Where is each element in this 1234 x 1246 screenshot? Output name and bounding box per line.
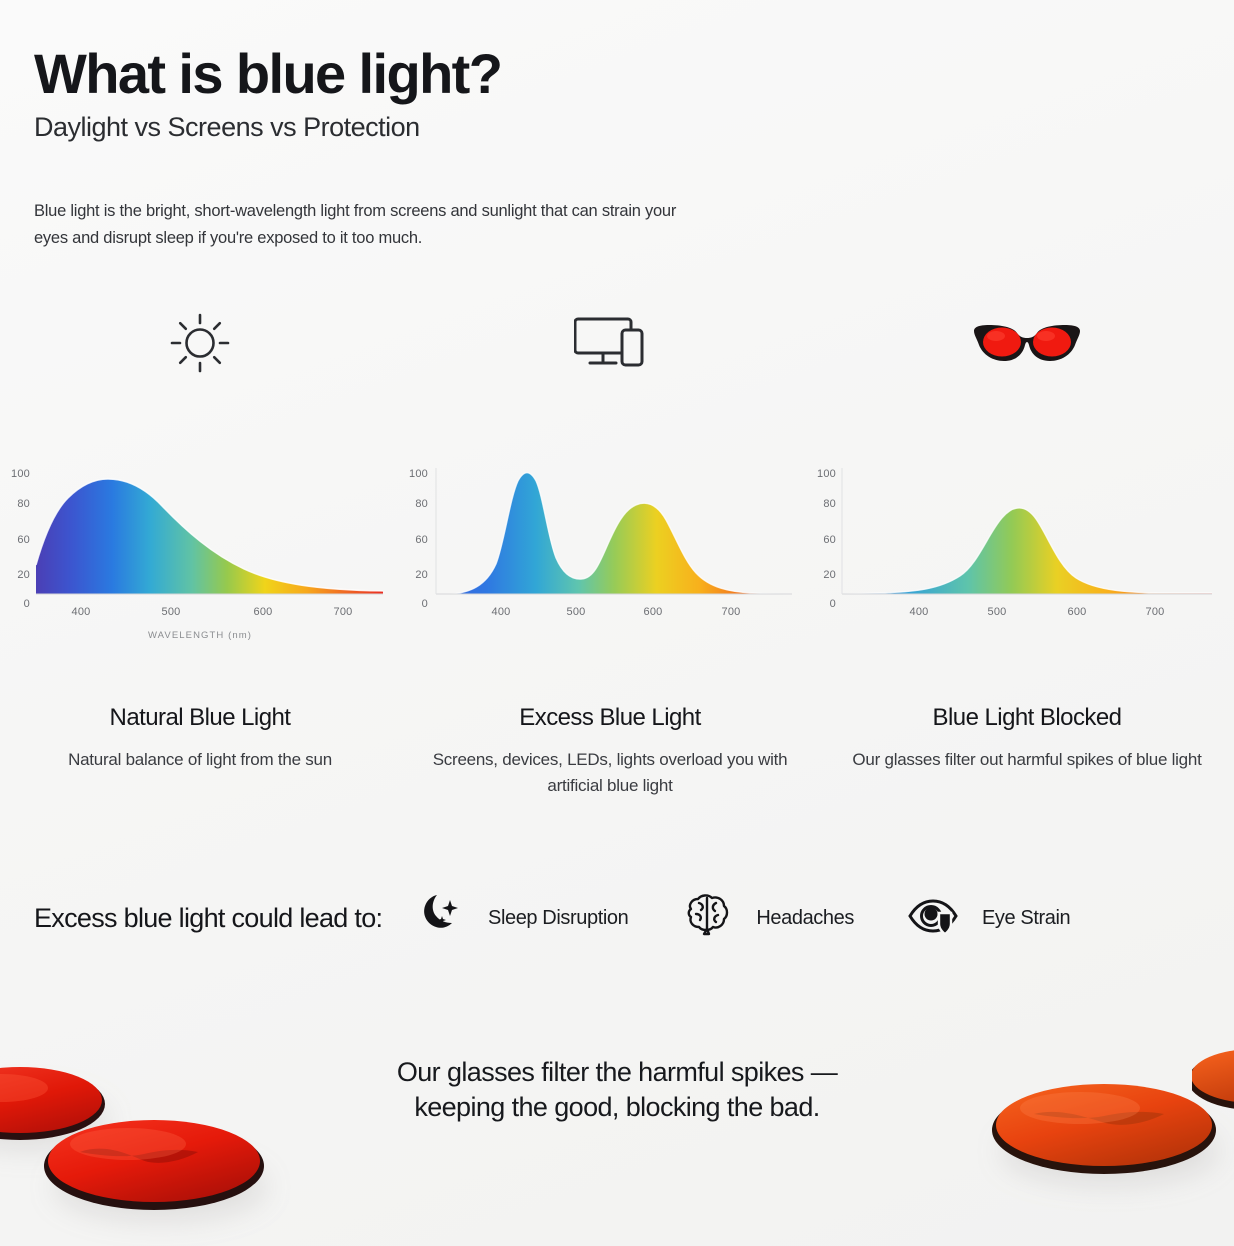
lens-right-far — [1192, 1040, 1234, 1118]
symptom-sleep-disruption: Sleep Disruption — [412, 889, 628, 948]
brain-icon — [680, 889, 734, 948]
ytick-60: 60 — [400, 534, 428, 546]
ytick-20: 20 — [808, 569, 836, 581]
panel-title: Blue Light Blocked — [820, 704, 1234, 732]
ytick-80: 80 — [808, 498, 836, 510]
ytick-100: 100 — [2, 468, 30, 480]
xtick-500: 500 — [555, 606, 597, 618]
lens-right-near — [988, 1072, 1220, 1180]
ytick-0: 0 — [400, 598, 428, 610]
ytick-80: 80 — [400, 498, 428, 510]
infographic-page: What is blue light? Daylight vs Screens … — [0, 0, 1234, 1246]
xtick-400: 400 — [60, 606, 102, 618]
panel-title: Natural Blue Light — [0, 704, 400, 732]
symptom-label: Eye Strain — [982, 907, 1070, 930]
intro-paragraph: Blue light is the bright, short-waveleng… — [34, 198, 694, 251]
header: What is blue light? Daylight vs Screens … — [34, 45, 794, 143]
eye-shield-icon — [906, 889, 960, 948]
xtick-400: 400 — [898, 606, 940, 618]
panel-description: Screens, devices, LEDs, lights overload … — [400, 747, 820, 798]
ytick-60: 60 — [2, 534, 30, 546]
lens-left-near — [40, 1108, 268, 1216]
xtick-500: 500 — [150, 606, 192, 618]
panel-excess-blue-light: 100 80 60 20 0 400 500 600 700 Excess Bl… — [400, 300, 820, 845]
symptom-eye-strain: Eye Strain — [906, 889, 1070, 948]
panel-natural-blue-light: 100 80 60 20 0 400 500 600 700 WAVELENGT… — [0, 300, 400, 845]
sun-icon — [0, 300, 400, 386]
panel-description: Our glasses filter out harmful spikes of… — [820, 747, 1234, 773]
xtick-700: 700 — [1134, 606, 1176, 618]
ytick-20: 20 — [2, 569, 30, 581]
x-axis-label: WAVELENGTH (nm) — [0, 630, 400, 641]
ytick-0: 0 — [808, 598, 836, 610]
symptoms-row: Excess blue light could lead to: Sleep D… — [34, 878, 1200, 958]
ytick-0: 0 — [2, 598, 30, 610]
panel-title: Excess Blue Light — [400, 704, 820, 732]
xtick-600: 600 — [1056, 606, 1098, 618]
xtick-600: 600 — [242, 606, 284, 618]
ytick-100: 100 — [400, 468, 428, 480]
page-subtitle: Daylight vs Screens vs Protection — [34, 112, 794, 143]
symptom-label: Headaches — [756, 907, 854, 930]
panel-description: Natural balance of light from the sun — [0, 747, 400, 773]
symptom-label: Sleep Disruption — [488, 907, 628, 930]
xtick-400: 400 — [480, 606, 522, 618]
chart-natural-blue-light: 100 80 60 20 0 400 500 600 700 WAVELENGT… — [0, 386, 400, 648]
ytick-80: 80 — [2, 498, 30, 510]
ytick-100: 100 — [808, 468, 836, 480]
chart-excess-blue-light: 100 80 60 20 0 400 500 600 700 — [400, 386, 820, 648]
blue-light-glasses-icon — [820, 300, 1234, 386]
ytick-60: 60 — [808, 534, 836, 546]
xtick-600: 600 — [632, 606, 674, 618]
xtick-700: 700 — [322, 606, 364, 618]
xtick-700: 700 — [710, 606, 752, 618]
ytick-20: 20 — [400, 569, 428, 581]
symptom-headaches: Headaches — [680, 889, 854, 948]
symptoms-lead: Excess blue light could lead to: — [34, 901, 402, 936]
monitor-phone-icon — [400, 300, 820, 386]
moon-stars-icon — [412, 889, 466, 948]
page-title: What is blue light? — [34, 45, 794, 104]
chart-blue-light-blocked: 100 80 60 20 0 400 500 600 700 — [820, 386, 1234, 648]
panel-blue-light-blocked: 100 80 60 20 0 400 500 600 700 Blue Ligh… — [820, 300, 1234, 845]
xtick-500: 500 — [976, 606, 1018, 618]
comparison-panels: 100 80 60 20 0 400 500 600 700 WAVELENGT… — [0, 300, 1234, 845]
